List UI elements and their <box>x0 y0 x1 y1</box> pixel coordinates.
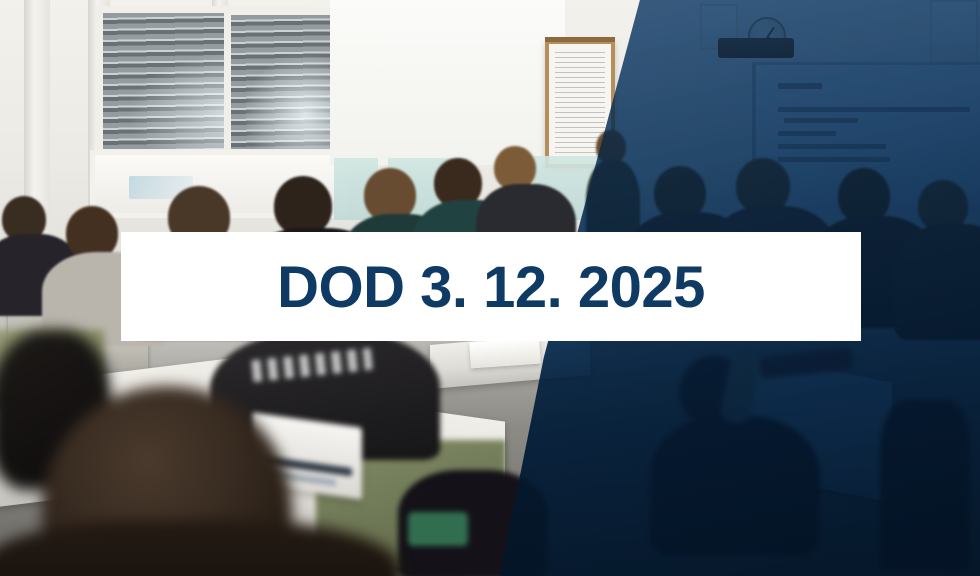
title-banner: DOD 3. 12. 2025 <box>121 232 861 341</box>
foreground-blurred-body <box>0 520 400 576</box>
page-title: DOD 3. 12. 2025 <box>277 259 705 317</box>
promo-banner-image: DOD 3. 12. 2025 <box>0 0 980 576</box>
